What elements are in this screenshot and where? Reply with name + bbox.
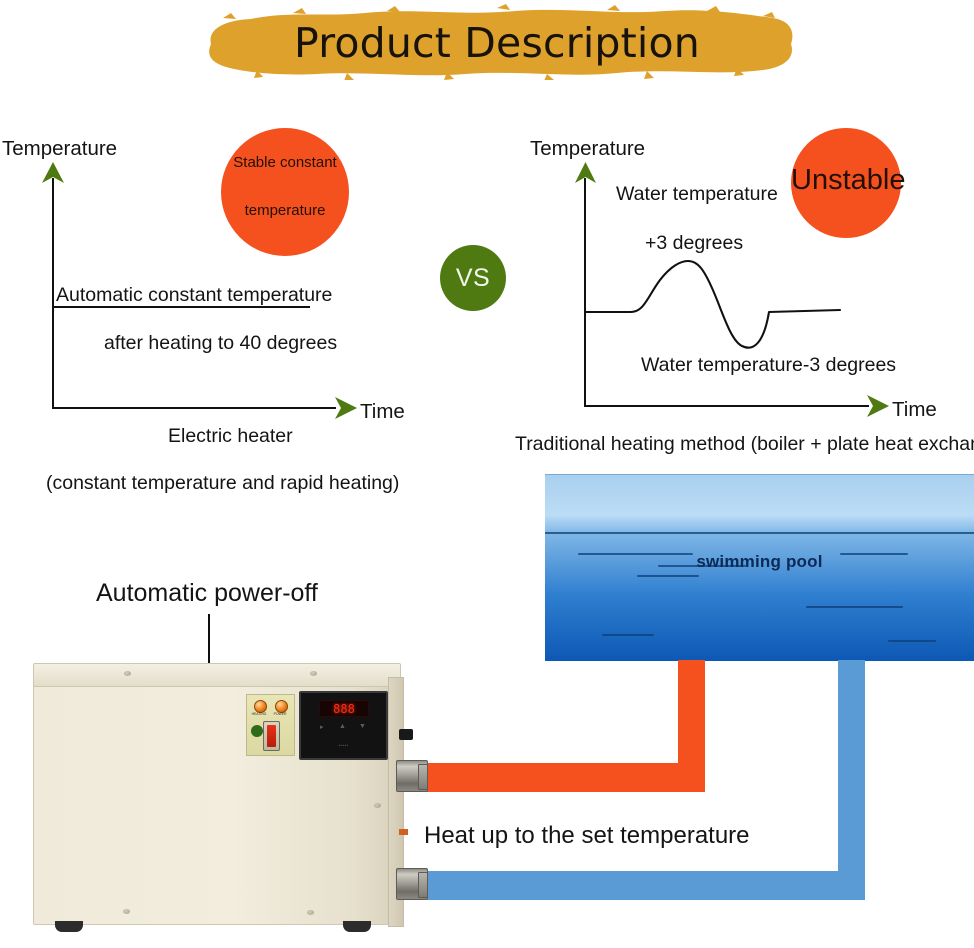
controller-brand-text: ••••• (301, 743, 386, 748)
up-button-icon[interactable]: ▲ (339, 723, 346, 730)
pool-waterline (545, 532, 974, 534)
heater-foot (55, 921, 83, 932)
power-rocker-switch[interactable] (263, 721, 280, 751)
left-chart-caption-title: Electric heater (168, 427, 293, 447)
stable-constant-badge: Stable constant temperature (221, 128, 349, 256)
left-chart-x-axis-label: Time (360, 402, 405, 423)
right-chart-x-axis-label: Time (892, 400, 937, 421)
stable-badge-line-2: temperature (221, 202, 349, 219)
pool-label: swimming pool (545, 553, 974, 570)
cold-inlet-fitting (396, 868, 428, 900)
cable-gland-connector (399, 729, 413, 740)
right-chart-peak-label: +3 degrees (645, 234, 743, 254)
stable-badge-line-1: Stable constant (221, 154, 349, 171)
control-plate: HEATING POWER (246, 694, 295, 756)
unstable-badge: Unstable (791, 128, 901, 238)
right-chart-x-axis (584, 405, 869, 407)
automatic-power-off-label: Automatic power-off (96, 581, 318, 606)
unstable-badge-label: Unstable (791, 164, 901, 197)
heater-screw (374, 803, 381, 808)
callout-anchor-dot (251, 725, 263, 737)
pool-ripple (888, 640, 936, 642)
right-chart-curve-label: Water temperature (616, 185, 778, 205)
rocker-switch-face[interactable] (267, 725, 276, 747)
side-marker (399, 829, 408, 835)
right-chart-caption: Traditional heating method (boiler + pla… (515, 435, 974, 455)
heater-screw (123, 909, 130, 914)
pool-ripple (637, 575, 699, 577)
versus-badge: VS (440, 245, 506, 311)
left-chart-y-arrow-icon (41, 162, 65, 189)
temperature-display: 888 (319, 700, 369, 717)
heater-top-cap (33, 663, 401, 687)
set-button-icon[interactable]: ▸ (320, 723, 324, 731)
hot-outlet-fitting (396, 760, 428, 792)
display-value: 888 (333, 703, 355, 715)
cold-pipe-horizontal (424, 871, 865, 900)
power-lamp-label: POWER (270, 712, 290, 716)
down-button-icon[interactable]: ▼ (359, 723, 366, 730)
page-title: Product Description (197, 12, 797, 74)
electric-water-heater: HEATING POWER 888 ▸ ▲ ▼ ••••• (33, 663, 401, 935)
heater-screw (124, 671, 131, 676)
heater-screw (307, 910, 314, 915)
pool-ripple (602, 634, 654, 636)
heater-foot (343, 921, 371, 932)
left-chart-note-primary: Automatic constant temperature (56, 286, 332, 306)
right-chart-trough-label: Water temperature-3 degrees (641, 356, 896, 376)
left-chart-note-secondary: after heating to 40 degrees (104, 334, 337, 354)
left-chart-y-axis (52, 178, 54, 409)
left-chart-constant-line (53, 306, 310, 308)
versus-label: VS (456, 266, 490, 291)
left-chart-x-axis (52, 407, 336, 409)
right-chart-x-arrow-icon (864, 394, 890, 423)
left-chart-y-axis-label: Temperature (2, 139, 117, 160)
heat-up-label: Heat up to the set temperature (424, 824, 750, 848)
left-chart-caption-subtitle: (constant temperature and rapid heating) (46, 474, 399, 494)
pool-ripple (806, 606, 903, 608)
right-chart-y-arrow-icon (574, 162, 597, 189)
left-chart-x-arrow-icon (332, 396, 358, 425)
heating-lamp-label: HEATING (249, 712, 269, 716)
heater-screw (310, 671, 317, 676)
right-chart-y-axis-label: Temperature (530, 139, 645, 160)
temperature-controller[interactable]: 888 ▸ ▲ ▼ ••••• (299, 691, 388, 760)
cold-pipe-vertical (838, 660, 865, 890)
hot-pipe-vertical (678, 660, 705, 770)
hot-pipe-horizontal (424, 763, 705, 792)
